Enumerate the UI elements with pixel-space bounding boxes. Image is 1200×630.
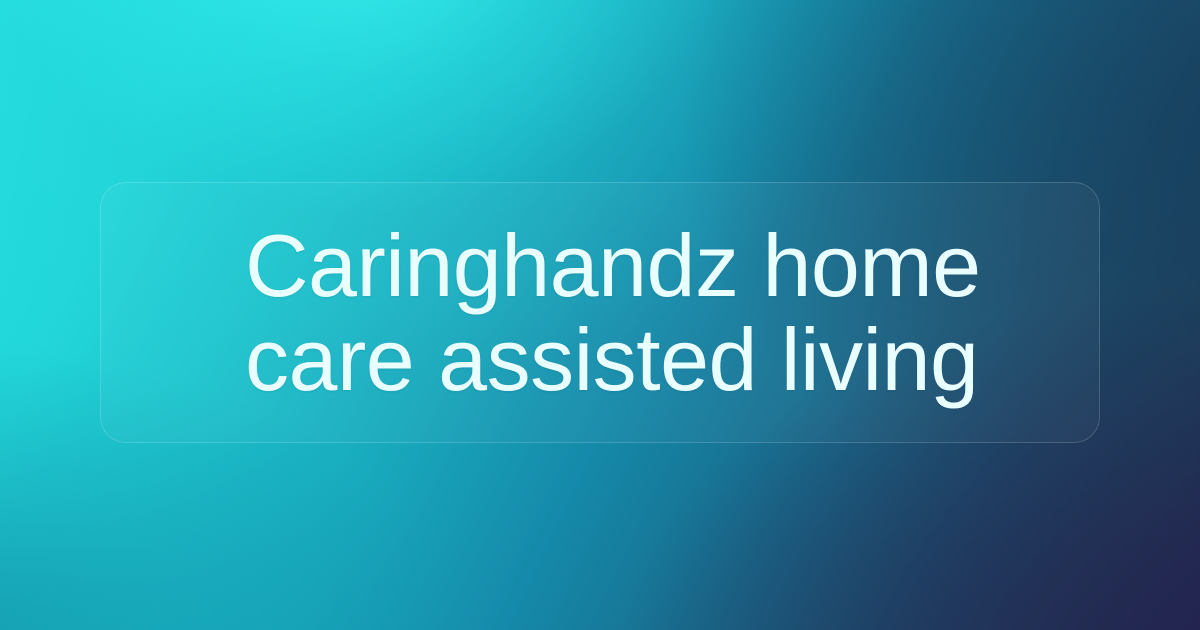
page-title: Caringhandz home care assisted living [245,219,981,406]
social-share-card: Caringhandz home care assisted living [0,0,1200,630]
headline-panel: Caringhandz home care assisted living [100,182,1100,443]
